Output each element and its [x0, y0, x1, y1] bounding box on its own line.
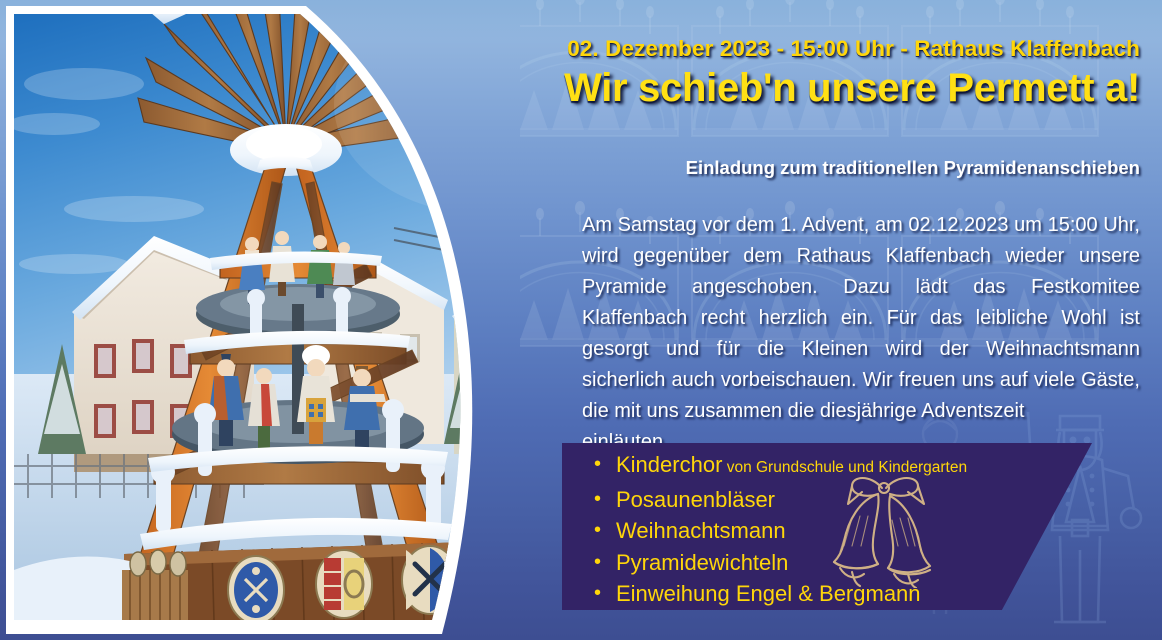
programme-item-label: Posaunenbläser — [616, 487, 775, 512]
subheadline: Einladung zum traditionellen Pyramidenan… — [686, 157, 1140, 179]
bullet-icon: • — [594, 449, 601, 481]
list-item: •Posaunenbläser — [582, 484, 1052, 516]
christmas-bells-icon — [824, 470, 946, 588]
poster-root: 02. Dezember 2023 - 15:00 Uhr - Rathaus … — [0, 0, 1162, 640]
event-date-line: 02. Dezember 2023 - 15:00 Uhr - Rathaus … — [567, 36, 1140, 62]
bullet-icon: • — [594, 484, 601, 516]
pyramid-photo — [14, 14, 574, 620]
list-item: •Einweihung Engel & Bergmann — [582, 578, 1052, 610]
list-item: •Pyramidewichteln — [582, 547, 1052, 579]
body-paragraph-1: Am Samstag vor dem 1. Advent, am 02.12.2… — [582, 210, 1140, 427]
bullet-icon: • — [594, 578, 601, 610]
programme-item-label: Kinderchor — [616, 452, 722, 477]
list-item: •Weihnachtsmann — [582, 515, 1052, 547]
programme-item-label: Weihnachtsmann — [616, 518, 786, 543]
bullet-icon: • — [594, 515, 601, 547]
body-text: Am Samstag vor dem 1. Advent, am 02.12.2… — [582, 210, 1140, 458]
programme-list: •Kinderchor von Grundschule und Kinderga… — [582, 449, 1052, 610]
page-title: Wir schieb'n unsere Permett a! — [564, 66, 1140, 111]
photo-container — [0, 0, 600, 640]
programme-item-label: Pyramidewichteln — [616, 550, 788, 575]
list-item: •Kinderchor von Grundschule und Kinderga… — [582, 449, 1052, 484]
bullet-icon: • — [594, 547, 601, 579]
